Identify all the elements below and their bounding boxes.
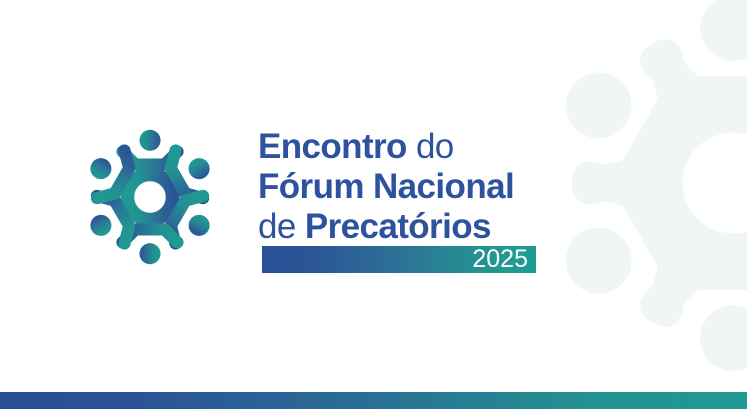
- logo-figures-group: [87, 130, 214, 264]
- wordmark-line-1: Encontro do: [258, 129, 558, 164]
- wordmark-line-3: de Precatórios: [258, 209, 558, 244]
- wordmark-line-2: Fórum Nacional: [258, 169, 558, 204]
- logo-figure-head-4: [139, 243, 160, 264]
- wordmark-de: de: [258, 207, 296, 246]
- wordmark-encontro: Encontro: [258, 127, 407, 166]
- wordmark: Encontro do Fórum Nacional de Precatório…: [258, 129, 558, 250]
- logo-figure-head-5: [87, 211, 116, 240]
- event-banner: Encontro do Fórum Nacional de Precatório…: [0, 0, 747, 409]
- logo-center-ring: [127, 174, 172, 219]
- year-bar: 2025: [262, 246, 536, 273]
- logo-mark: [66, 116, 234, 278]
- year-label: 2025: [472, 247, 536, 272]
- watermark-logo-group: [554, 0, 747, 371]
- bottom-gradient-bar: [0, 392, 747, 409]
- wordmark-precatorios: Precatórios: [305, 207, 491, 246]
- logo-figure-head-2: [185, 154, 214, 183]
- wordmark-forum-nacional: Fórum Nacional: [258, 167, 514, 206]
- wordmark-do: do: [416, 127, 454, 166]
- logo-figure-head-3: [185, 211, 214, 240]
- logo-figure-head-6: [87, 154, 116, 183]
- logo-figure-head-1: [139, 130, 160, 151]
